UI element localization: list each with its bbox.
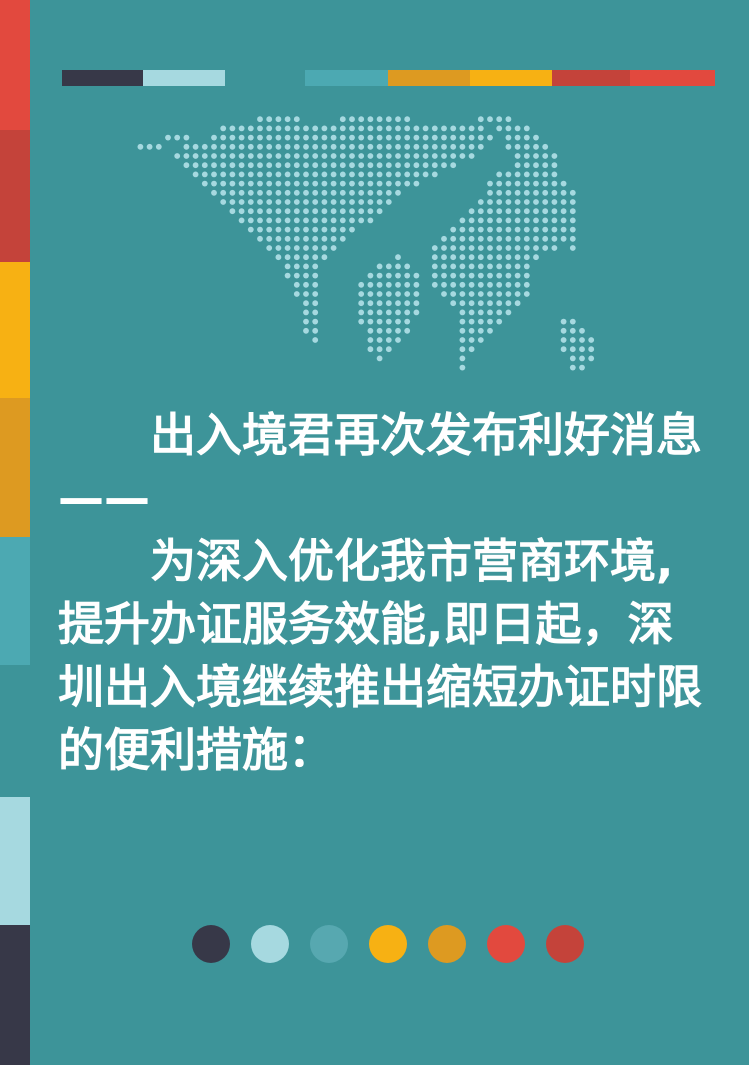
segment-dark-orange [0,398,30,537]
dot-dark-orange [428,925,466,963]
dot-dark-red [546,925,584,963]
bar-bright-red [630,70,715,86]
segment-yellow [0,262,30,398]
dot-yellow [369,925,407,963]
segment-pale-blue [0,797,30,925]
segment-dark-red [0,130,30,262]
paragraph-two: 为深入优化我市营商环境,提升办证服务效能,即日起，深圳出入境继续推出缩短办证时限… [58,530,718,782]
bar-dark-orange [388,70,470,86]
segment-gap-teal [0,665,30,797]
poster-canvas: 出入境君再次发布利好消息—— 为深入优化我市营商环境,提升办证服务效能,即日起，… [0,0,749,1065]
bar-dark-navy [62,70,143,86]
bar-teal [305,70,388,86]
segment-light-teal [0,537,30,665]
segment-bright-red [0,0,30,130]
dot-pale-blue [251,925,289,963]
bar-pale-blue [143,70,225,86]
paragraph-one: 出入境君再次发布利好消息—— [58,404,718,530]
dot-bright-red [487,925,525,963]
bar-dark-red [552,70,630,86]
dot-dark-navy [192,925,230,963]
left-color-strip [0,0,30,1065]
top-bar-group [0,70,749,86]
bottom-dot-row [192,925,582,967]
bar-yellow [470,70,552,86]
segment-dark-navy [0,925,30,1065]
dotted-world-map [120,108,660,388]
dot-teal [310,925,348,963]
main-text-block: 出入境君再次发布利好消息—— 为深入优化我市营商环境,提升办证服务效能,即日起，… [58,404,718,782]
